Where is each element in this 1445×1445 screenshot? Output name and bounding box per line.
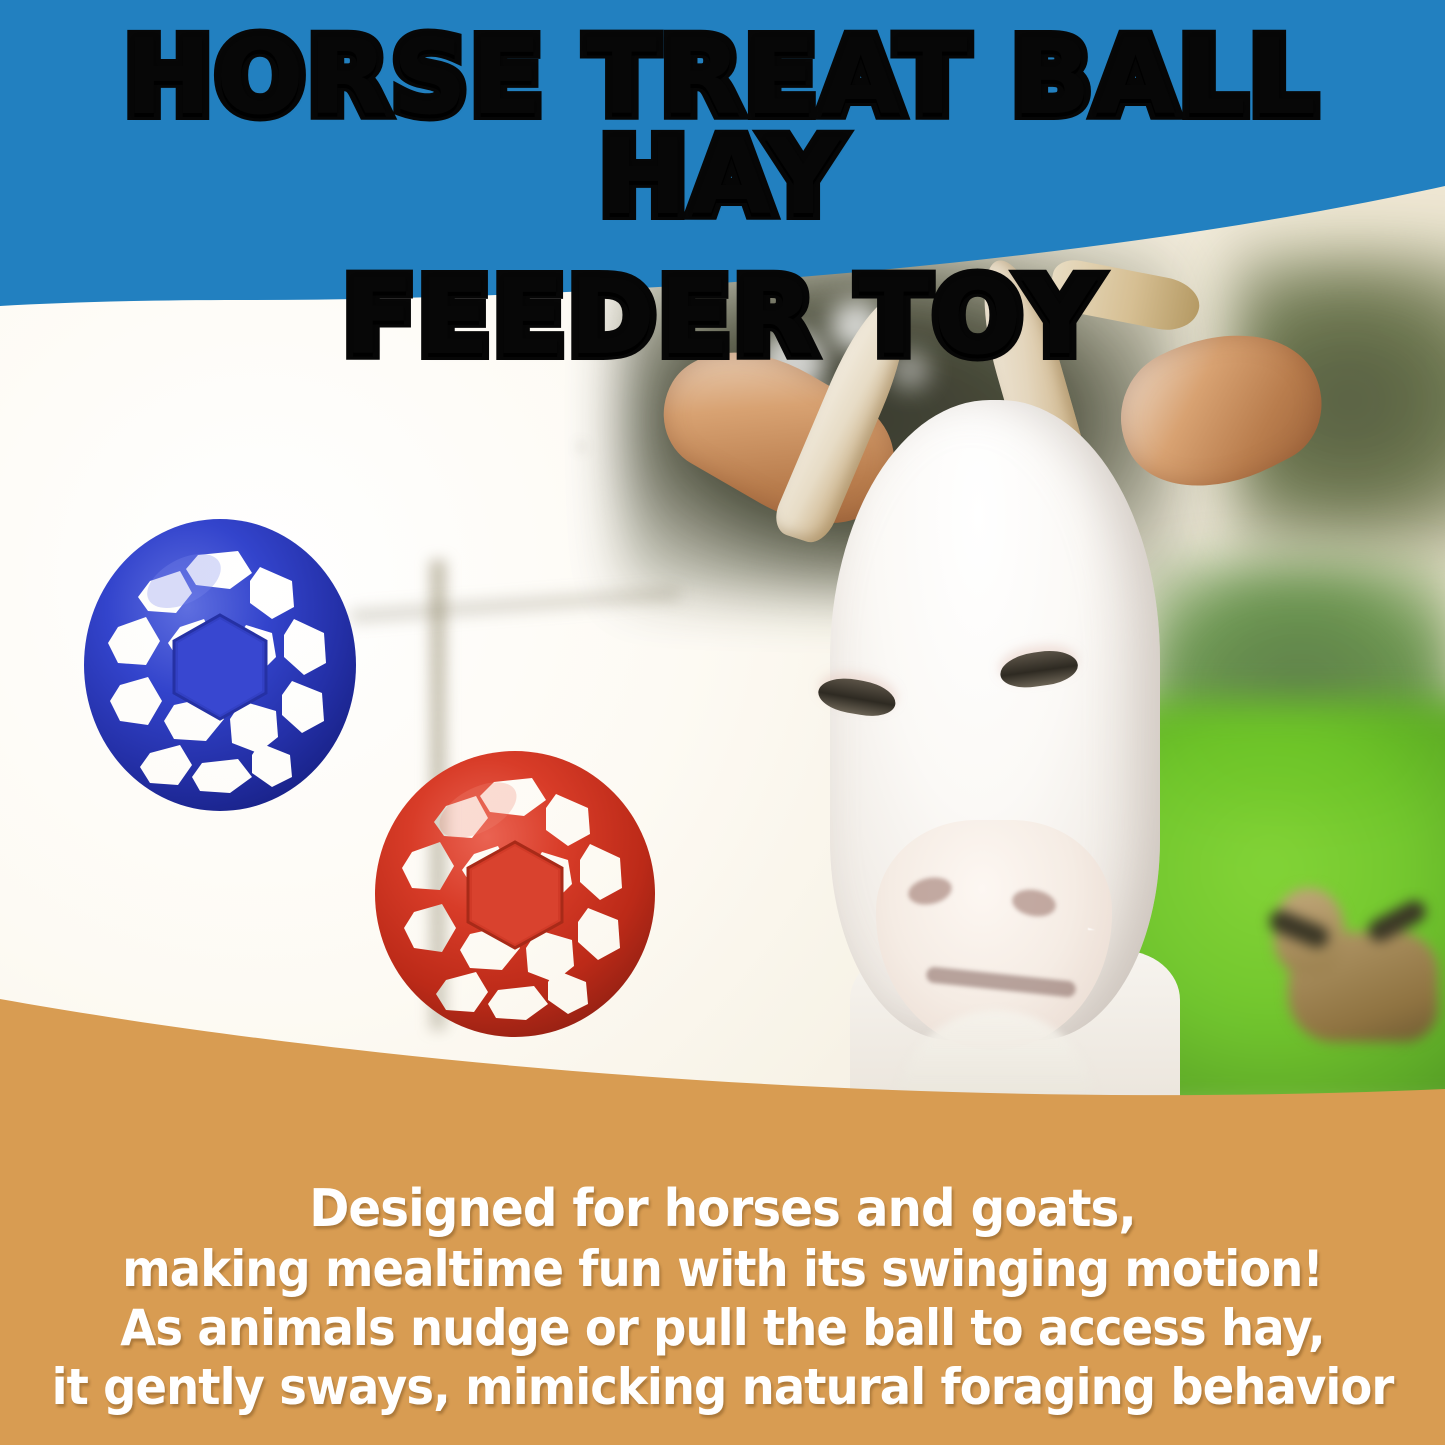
bottom-band [0, 985, 1445, 1445]
top-banner [0, 0, 1445, 340]
blue-lattice-treat-ball [80, 515, 360, 815]
goat-whiskers [1088, 810, 1268, 930]
product-poster: HORSE TREAT BALL HAY FEEDER TOY Designed… [0, 0, 1445, 1445]
